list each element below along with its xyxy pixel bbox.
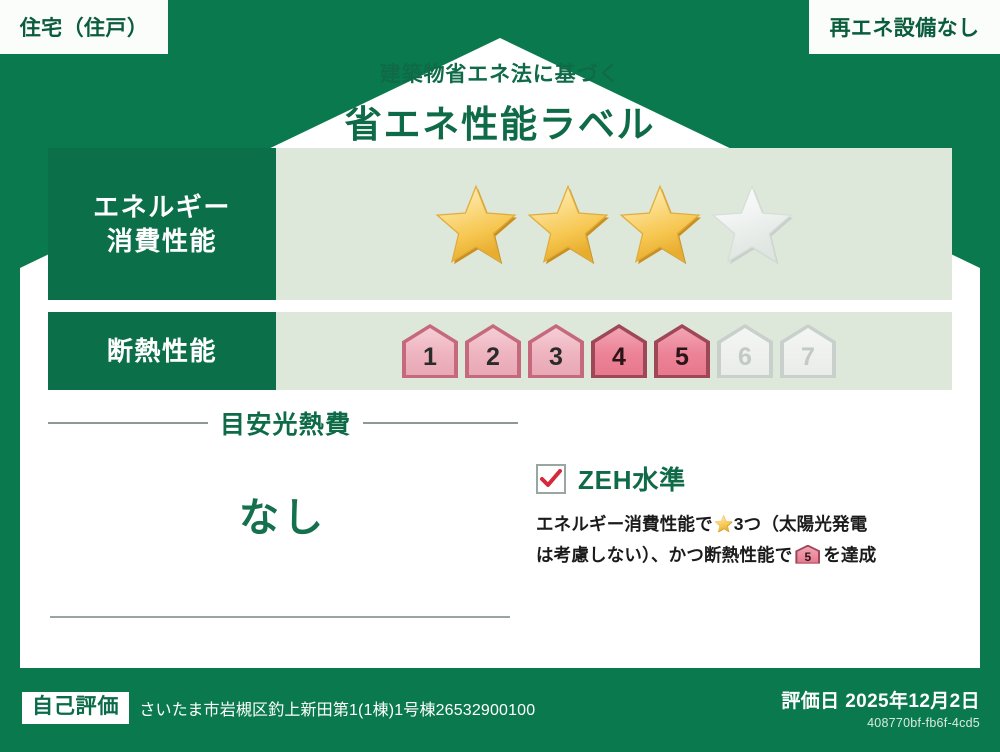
star-rating (433, 183, 795, 265)
property-address: さいたま市岩槻区釣上新田第1(1棟)1号棟26532900100 (139, 696, 535, 720)
utility-cost-heading: 目安光熱費 (48, 406, 518, 440)
grade-badge-5: 5 (654, 324, 710, 378)
grade-scale: 1234567 (402, 324, 836, 378)
zeh-desc-part3: は考慮しない）、かつ断熱性能で (536, 545, 792, 565)
building-type-tag: 住宅（住戸） (0, 0, 168, 54)
grade-badge-value: 3 (549, 345, 563, 378)
grade-badge-4: 4 (591, 324, 647, 378)
heading-rule-left (48, 422, 208, 424)
grade-badge-6: 6 (717, 324, 773, 378)
footer-left: 自己評価 さいたま市岩槻区釣上新田第1(1棟)1号棟26532900100 (22, 692, 535, 724)
grade-badge-2: 2 (465, 324, 521, 378)
star-icon-empty (709, 183, 795, 265)
grade-badge-1: 1 (402, 324, 458, 378)
zeh-header: ZEH水準 (536, 460, 956, 497)
star-icon-filled (433, 183, 519, 265)
utility-cost-bottom-rule (50, 616, 510, 618)
energy-performance-rating (276, 148, 952, 300)
grade-badge-value: 4 (612, 345, 626, 378)
renewable-equipment-tag: 再エネ設備なし (809, 0, 1000, 54)
star-icon-filled (525, 183, 611, 265)
insulation-label: 断熱性能 (107, 334, 217, 368)
zeh-title: ZEH水準 (578, 460, 686, 497)
evaluation-date: 評価日 2025年12月2日 (781, 686, 980, 713)
grade-badge-value: 2 (486, 345, 500, 378)
utility-cost-heading-label: 目安光熱費 (220, 405, 351, 441)
energy-performance-row: エネルギー 消費性能 (48, 148, 952, 300)
grade-badge-value: 5 (675, 345, 689, 378)
star-icon-filled (714, 514, 733, 533)
star-icon (714, 512, 733, 531)
energy-label-line2: 消費性能 (107, 224, 217, 258)
star-icon-filled (617, 183, 703, 265)
zeh-desc-part2: 3つ（太陽光発電 (734, 514, 868, 534)
grade-badge-value: 7 (801, 345, 815, 378)
grade-badge-7: 7 (780, 324, 836, 378)
zeh-desc-part4: を達成 (823, 545, 876, 565)
grade-badge-value: 6 (738, 345, 752, 378)
energy-performance-label-box: エネルギー 消費性能 (48, 148, 276, 300)
label-identifier: 408770bf-fb6f-4cd5 (781, 716, 980, 730)
self-evaluation-badge: 自己評価 (22, 692, 129, 724)
zeh-desc-part1: エネルギー消費性能で (536, 514, 713, 534)
grade-badge-3: 3 (528, 324, 584, 378)
grade-badge-value: 5 (795, 545, 820, 564)
utility-cost-value: なし (48, 485, 518, 543)
insulation-performance-rating: 1234567 (276, 312, 952, 390)
zeh-description: エネルギー消費性能で3つ（太陽光発電は考慮しない）、かつ断熱性能で5を達成 (536, 509, 956, 570)
energy-label-line1: エネルギー (93, 190, 231, 224)
zeh-block: ZEH水準 エネルギー消費性能で3つ（太陽光発電は考慮しない）、かつ断熱性能で5… (536, 460, 956, 570)
check-icon (540, 469, 562, 489)
building-type-label: 住宅（住戸） (20, 12, 149, 42)
insulation-performance-label-box: 断熱性能 (48, 312, 276, 390)
footer-right: 評価日 2025年12月2日 408770bf-fb6f-4cd5 (781, 686, 980, 730)
energy-performance-label: 住宅（住戸） 再エネ設備なし 建築物省エネ法に基づく 省エネ性能ラベル エネルギ… (0, 0, 1000, 752)
grade-badge-inline: 5 (795, 545, 820, 564)
zeh-checkbox[interactable] (536, 464, 566, 494)
grade-badge-value: 1 (423, 345, 437, 378)
insulation-performance-row: 断熱性能 1234567 (48, 312, 952, 390)
heading-rule-right (363, 422, 518, 424)
renewable-equipment-label: 再エネ設備なし (830, 12, 980, 42)
